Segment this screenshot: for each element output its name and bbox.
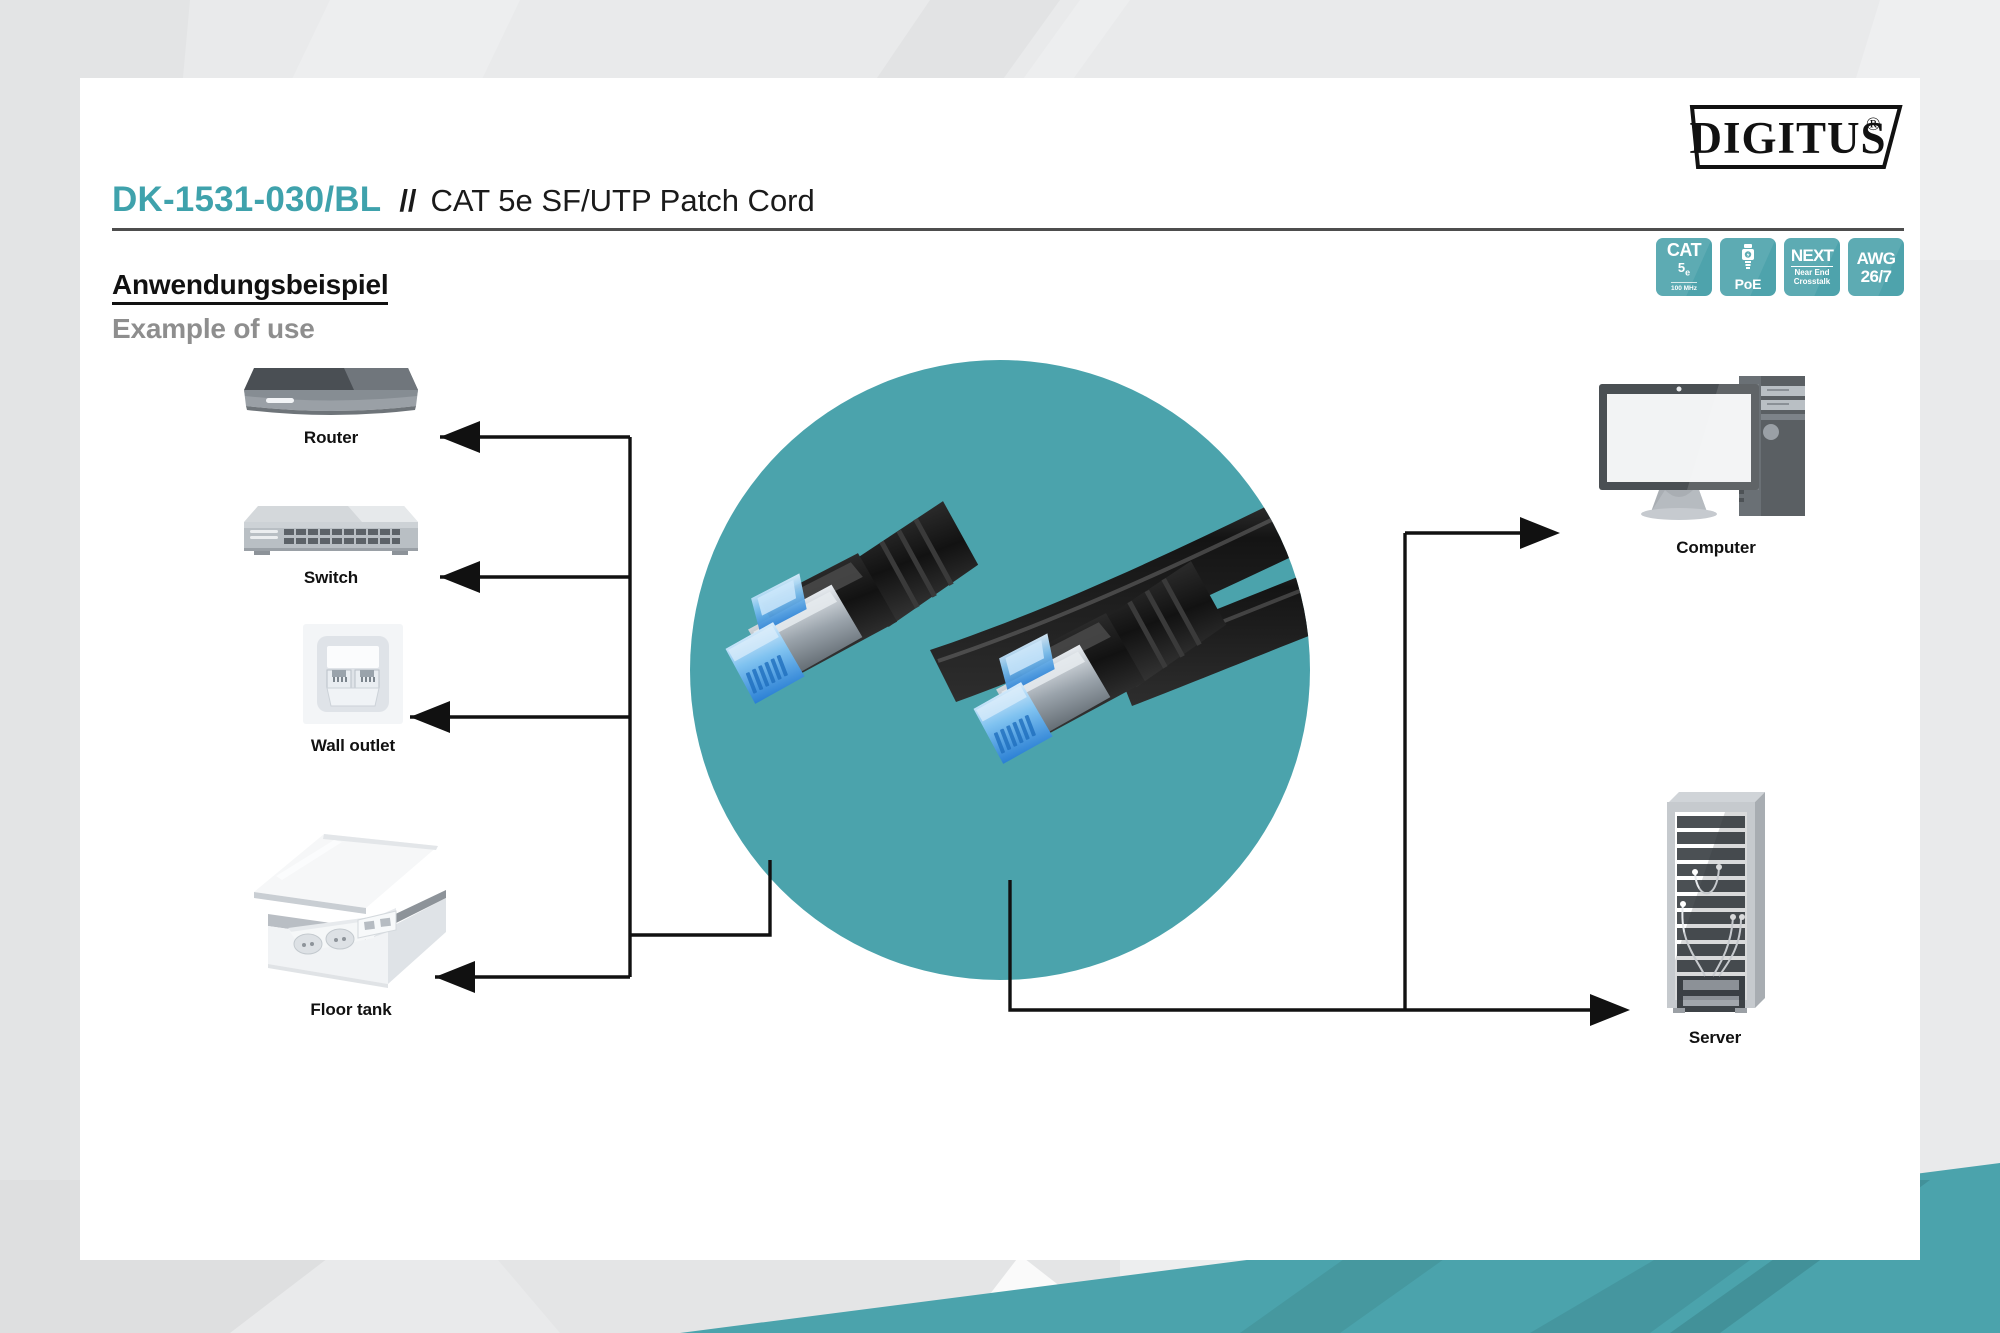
digitus-logo: DIGITUS ® [1688, 104, 1904, 170]
application-diagram: Router [80, 380, 1920, 1200]
floor-tank-label: Floor tank [206, 1000, 496, 1020]
node-floor-tank: Floor tank [206, 832, 496, 1020]
title-separator: // [399, 183, 416, 219]
wall-outlet-label: Wall outlet [228, 736, 478, 756]
poe-badge: PoE [1720, 238, 1776, 296]
node-computer: Computer [1566, 370, 1866, 558]
header-divider [112, 228, 1904, 231]
floor-tank-icon [206, 832, 496, 992]
next-badge-rule [1791, 266, 1833, 268]
awg-badge: AWG 26/7 [1848, 238, 1904, 296]
server-rack-icon [1595, 780, 1835, 1020]
wall-outlet-icon [228, 622, 478, 728]
section-heading: Anwendungsbeispiel Example of use [112, 270, 388, 344]
node-switch: Switch [206, 500, 456, 588]
arrowhead-computer [1520, 517, 1560, 549]
node-server: Server [1595, 780, 1835, 1048]
awg-badge-line2: 26/7 [1861, 268, 1892, 285]
registered-mark: ® [1866, 114, 1880, 135]
section-heading-en: Example of use [112, 314, 388, 344]
product-header: DK-1531-030/BL // CAT 5e SF/UTP Patch Co… [112, 180, 1904, 220]
rj45-plug-icon [1738, 244, 1758, 274]
product-sku: DK-1531-030/BL [112, 180, 381, 220]
spec-badge-group: CAT 5e 100 MHz PoE NEXT Near End Crossta… [1656, 238, 1904, 296]
cat-badge-line3: 100 MHz [1671, 282, 1697, 293]
cat-badge-line1: CAT [1667, 241, 1701, 259]
next-badge: NEXT Near End Crosstalk [1784, 238, 1840, 296]
cat-badge: CAT 5e 100 MHz [1656, 238, 1712, 296]
next-badge-line2: Near End Crosstalk [1794, 269, 1830, 287]
router-icon [206, 360, 456, 420]
server-label: Server [1595, 1028, 1835, 1048]
desktop-computer-icon [1566, 370, 1866, 530]
computer-label: Computer [1566, 538, 1866, 558]
product-title: CAT 5e SF/UTP Patch Cord [431, 183, 815, 219]
section-heading-de: Anwendungsbeispiel [112, 270, 388, 305]
router-label: Router [206, 428, 456, 448]
node-router: Router [206, 360, 456, 448]
poe-badge-label: PoE [1735, 277, 1762, 291]
cat-badge-line2: 5e [1678, 261, 1690, 278]
switch-label: Switch [206, 568, 456, 588]
next-badge-line1: NEXT [1791, 247, 1833, 264]
logo-wordmark: DIGITUS [1689, 113, 1886, 163]
awg-badge-line1: AWG [1857, 250, 1896, 267]
node-wall-outlet: Wall outlet [228, 622, 478, 756]
network-switch-icon [206, 500, 456, 560]
